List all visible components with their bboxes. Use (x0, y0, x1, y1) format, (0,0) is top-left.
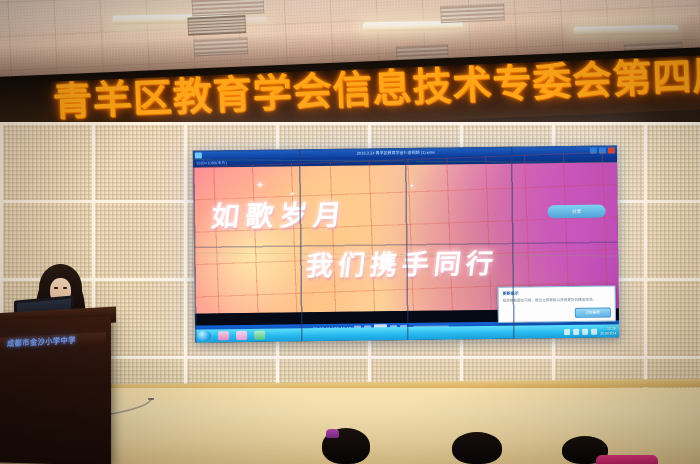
shield-icon[interactable] (582, 328, 588, 334)
chat-icon[interactable] (254, 331, 265, 340)
audience-head (452, 432, 502, 464)
sparkle-icon: ✦ (255, 179, 264, 192)
system-tray[interactable] (564, 328, 597, 334)
audience-shoulder (596, 455, 658, 464)
start-button-icon[interactable] (197, 330, 211, 341)
led-video-wall[interactable]: 2016.3.24 青羊区教育学会年会视频 (1).wmv 1920×1080(… (193, 145, 619, 342)
eye-right (63, 287, 67, 289)
slide-headline: 如歌岁月 (209, 194, 349, 236)
ceiling-grille (187, 15, 246, 36)
popup-action-button[interactable]: 立即更新 (575, 308, 611, 318)
share-badge-label: 分享 (572, 208, 581, 214)
eye-left (54, 287, 58, 289)
taskbar-clock[interactable]: 10:26 2016/3/24 (600, 327, 616, 336)
sparkle-icon: ✦ (409, 183, 414, 190)
slide-subheadline: 我们携手同行 (304, 242, 500, 283)
clock-date: 2016/3/24 (600, 331, 616, 335)
volume-tray-icon[interactable] (573, 328, 579, 334)
share-badge[interactable]: 分享 (548, 205, 606, 219)
app-icon (195, 152, 202, 158)
network-icon[interactable] (564, 329, 570, 335)
battery-icon[interactable] (591, 328, 597, 334)
conference-hall-photo: 青羊区教育学会信息技术专委会第四届学术年 2016.3.24 青羊区教育学会年会… (0, 0, 700, 464)
ceiling-vent (440, 3, 505, 23)
popup-heading: 更新提示 (503, 290, 611, 297)
media-icon[interactable] (236, 331, 247, 340)
update-notification-popup[interactable]: 更新提示 检测到新版本可用，建议立即更新以获得更好的播放体验。 立即更新 (498, 285, 616, 322)
popup-body: 检测到新版本可用，建议立即更新以获得更好的播放体验。 (503, 298, 611, 304)
hair-clip (326, 429, 339, 438)
browser-icon[interactable] (218, 331, 229, 340)
